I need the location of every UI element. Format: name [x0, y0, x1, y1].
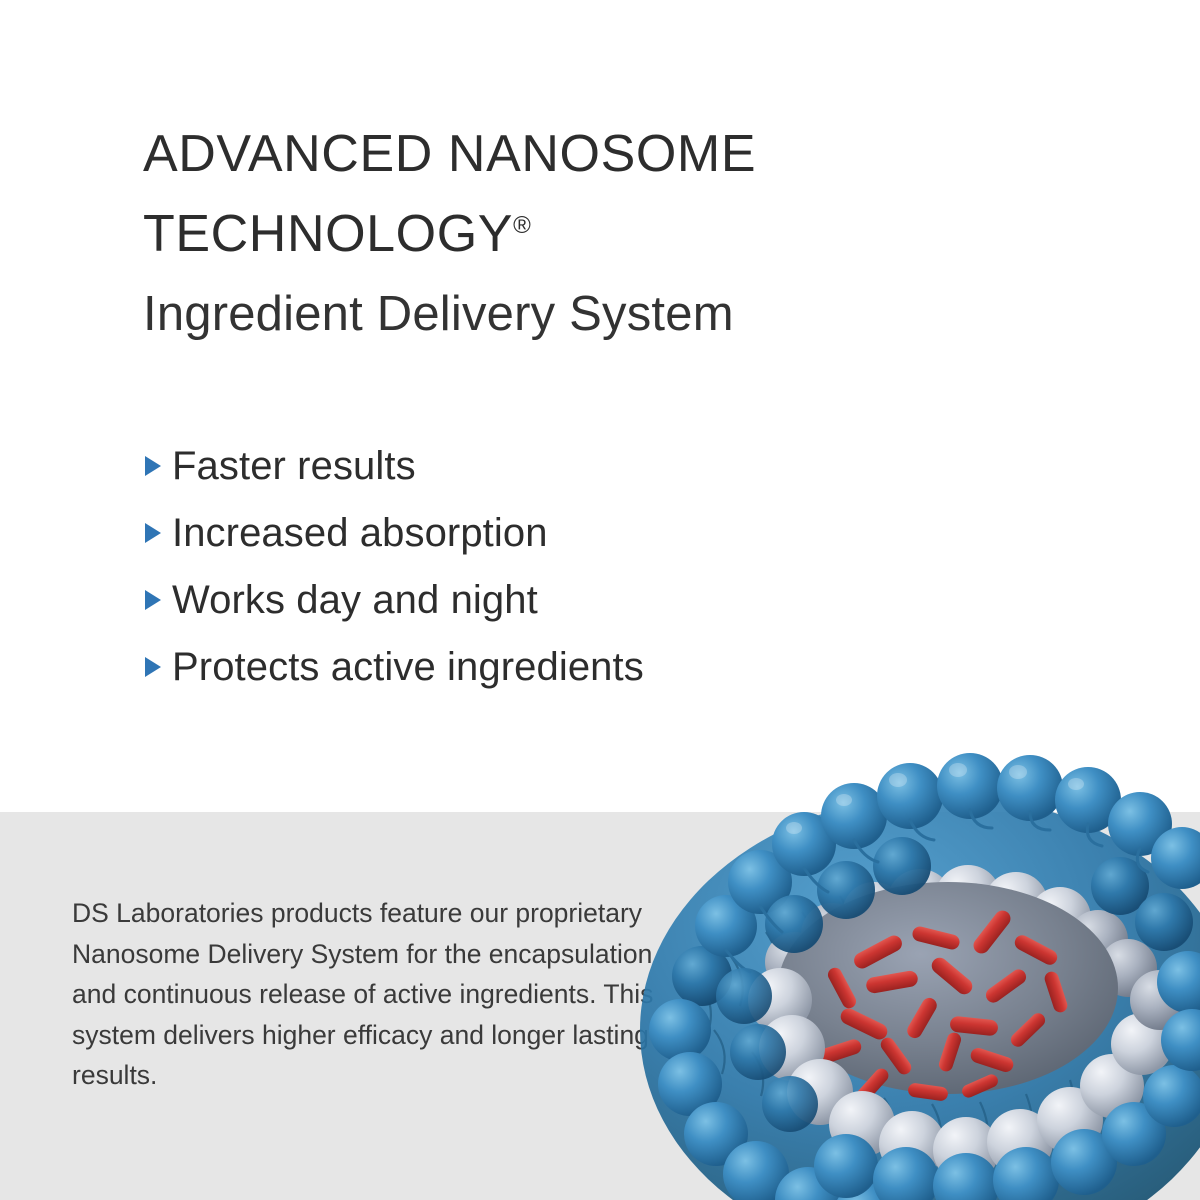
benefits-list: Faster results Increased absorption Work… [143, 432, 923, 700]
triangle-right-icon [143, 588, 165, 612]
heading-block: ADVANCED NANOSOMETECHNOLOGY® Ingredient … [143, 118, 1043, 344]
description-paragraph: DS Laboratories products feature our pro… [72, 893, 672, 1096]
triangle-right-icon [143, 454, 165, 478]
triangle-right-icon [143, 655, 165, 679]
page-title-line-1: ADVANCED NANOSOME [143, 125, 756, 183]
list-item: Faster results [143, 432, 923, 499]
list-item: Protects active ingredients [143, 633, 923, 700]
list-item: Increased absorption [143, 499, 923, 566]
benefit-label: Works day and night [172, 576, 538, 624]
page-title: ADVANCED NANOSOMETECHNOLOGY® [143, 118, 1043, 270]
benefit-label: Faster results [172, 442, 416, 490]
page-subtitle: Ingredient Delivery System [143, 284, 1043, 344]
page-title-line-2: TECHNOLOGY [143, 205, 513, 263]
benefit-label: Increased absorption [172, 509, 548, 557]
triangle-right-icon [143, 521, 165, 545]
registered-trademark-icon: ® [513, 212, 531, 239]
benefit-label: Protects active ingredients [172, 643, 644, 691]
list-item: Works day and night [143, 566, 923, 633]
nanosome-technology-slide: ADVANCED NANOSOMETECHNOLOGY® Ingredient … [0, 0, 1200, 1200]
